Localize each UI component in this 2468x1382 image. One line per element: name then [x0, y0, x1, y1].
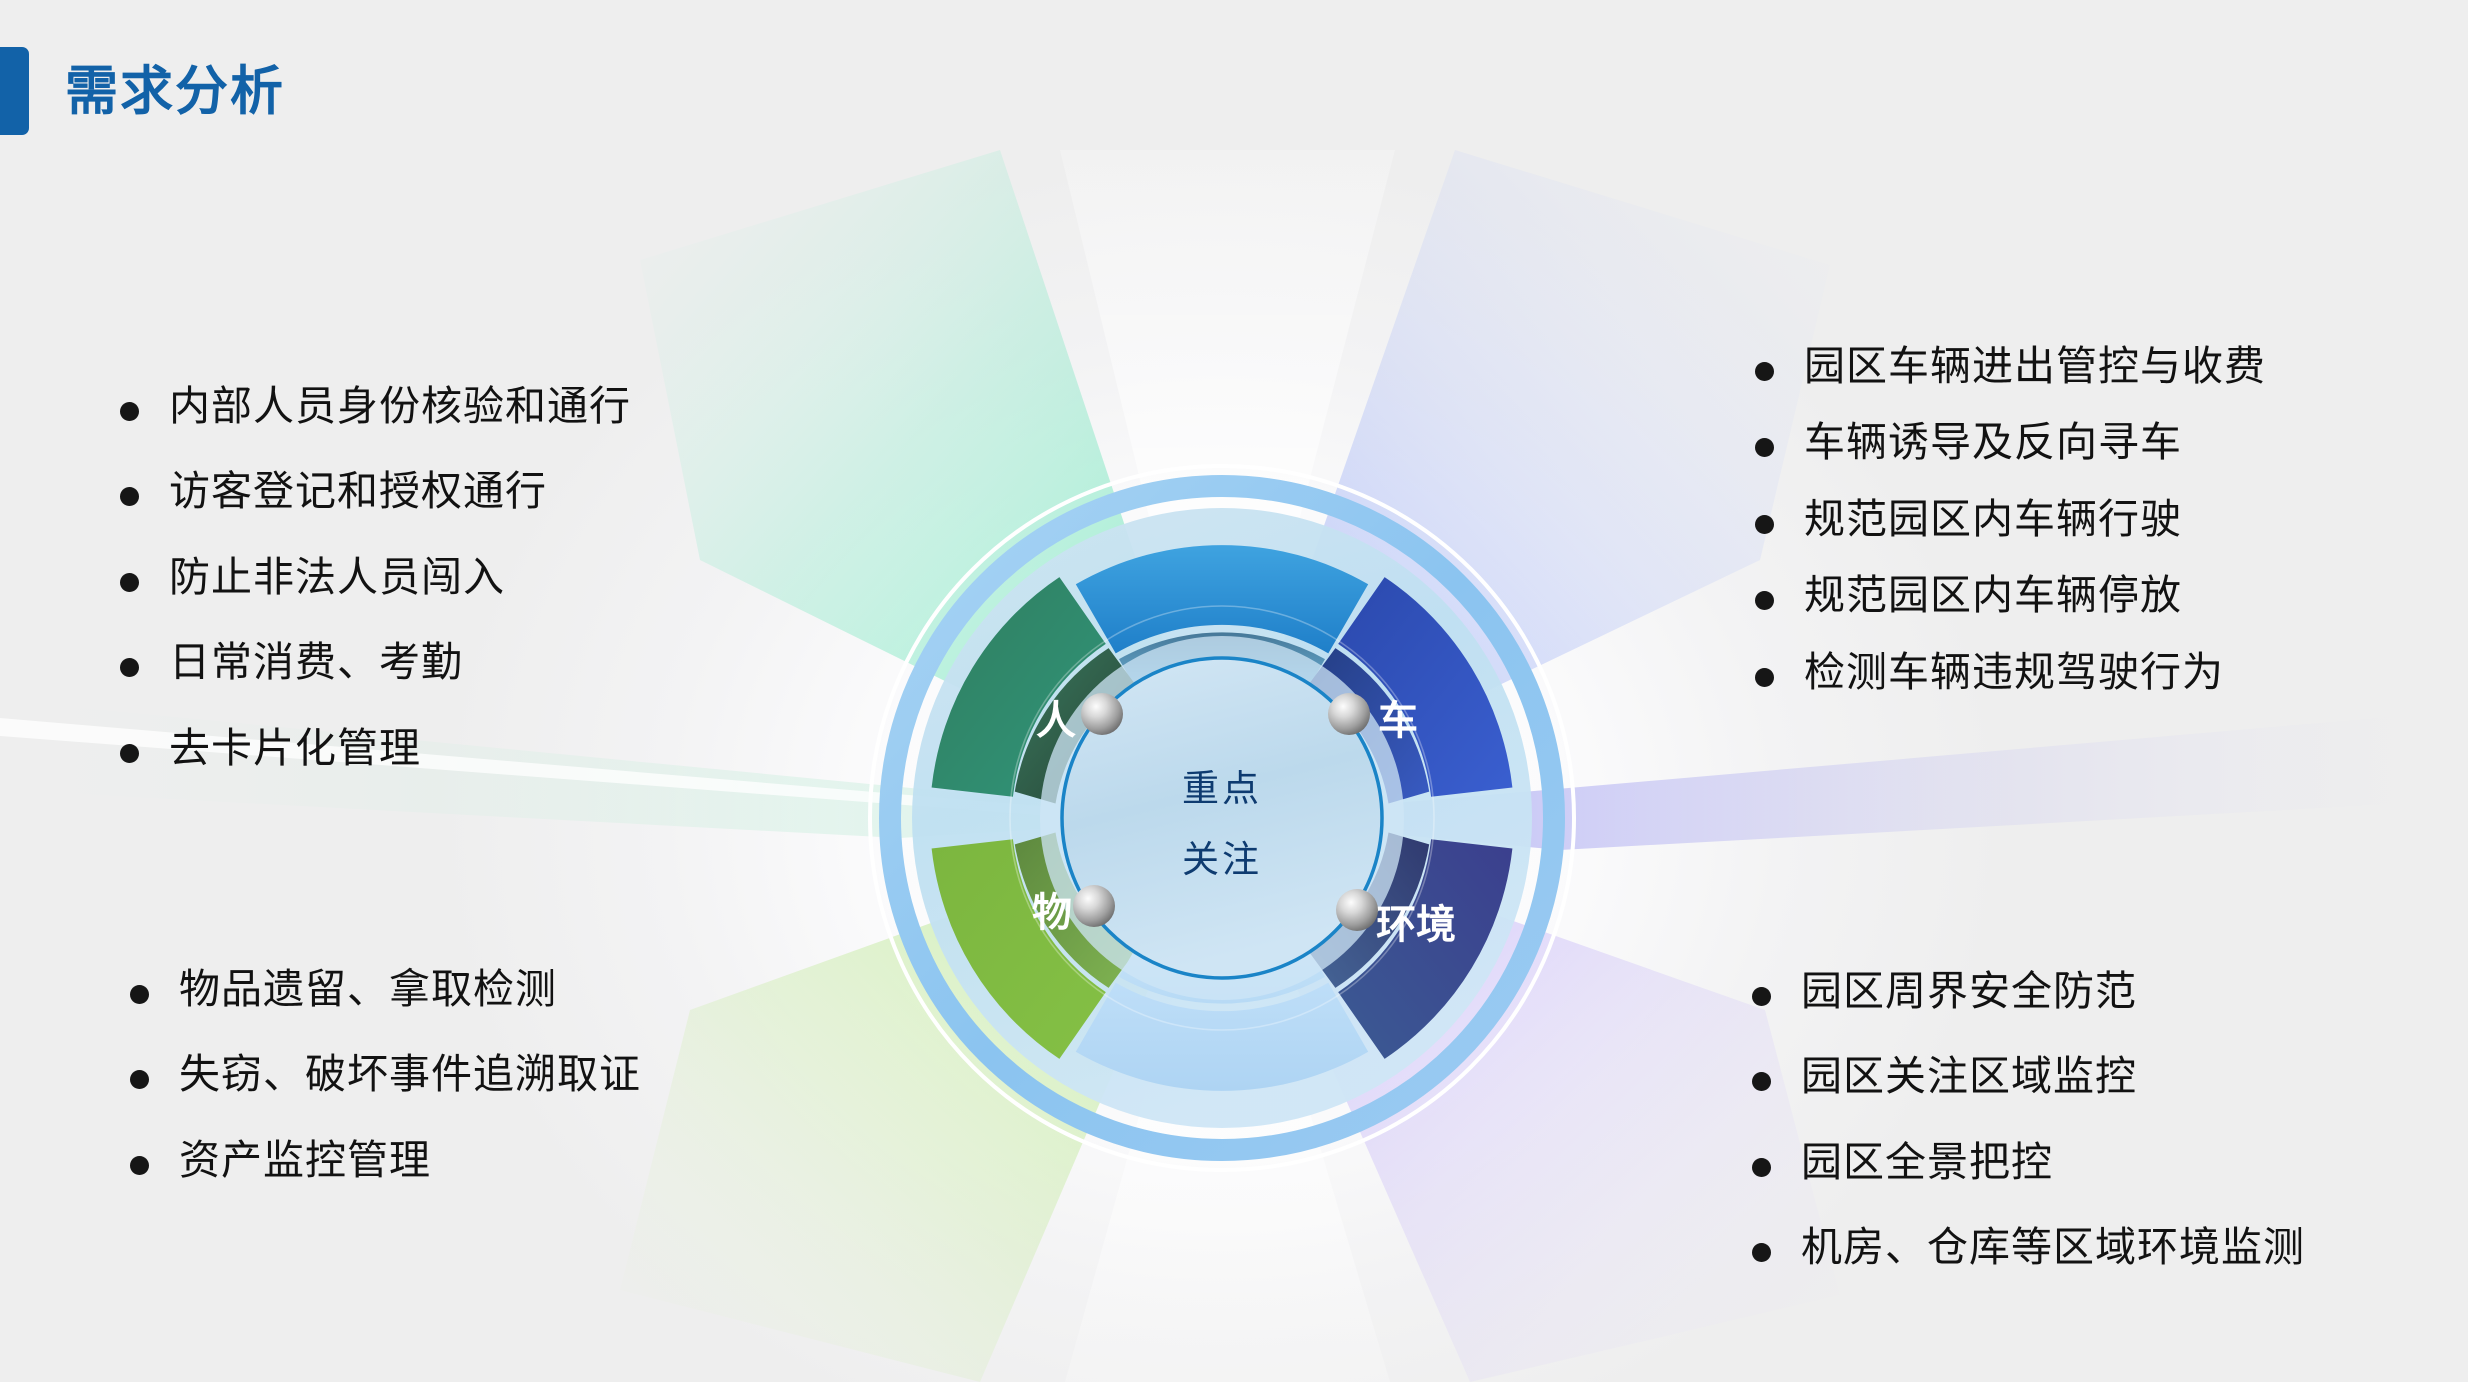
- bullet-icon: [1752, 1072, 1771, 1091]
- list-item-label: 园区车辆进出管控与收费: [1804, 345, 2266, 388]
- segment-label-huanjing: 环境: [1376, 903, 1456, 947]
- list-item[interactable]: 内部人员身份核验和通行: [120, 385, 631, 428]
- requirements-list-people: 内部人员身份核验和通行 访客登记和授权通行 防止非法人员闯入 日常消费、考勤 去…: [120, 385, 631, 812]
- list-item-label: 日常消费、考勤: [169, 641, 463, 684]
- list-item[interactable]: 规范园区内车辆停放: [1755, 574, 2266, 617]
- list-item-label: 物品遗留、拿取检测: [179, 968, 557, 1011]
- bullet-icon: [130, 985, 149, 1004]
- list-item-label: 园区周界安全防范: [1801, 970, 2137, 1013]
- list-item[interactable]: 检测车辆违规驾驶行为: [1755, 651, 2266, 694]
- list-item[interactable]: 日常消费、考勤: [120, 641, 631, 684]
- list-item[interactable]: 园区周界安全防范: [1752, 970, 2305, 1013]
- list-item[interactable]: 物品遗留、拿取检测: [130, 968, 641, 1011]
- list-item-label: 园区全景把控: [1801, 1141, 2053, 1184]
- list-item[interactable]: 防止非法人员闯入: [120, 556, 631, 599]
- hub-label-line2: 关注: [1182, 839, 1262, 880]
- bullet-icon: [1752, 1158, 1771, 1177]
- page-title: 需求分析: [65, 65, 285, 118]
- bullet-icon: [1752, 987, 1771, 1006]
- segment-label-che: 车: [1378, 699, 1418, 743]
- list-item[interactable]: 车辆诱导及反向寻车: [1755, 421, 2266, 464]
- bullet-icon: [1752, 1243, 1771, 1262]
- requirements-list-vehicles: 园区车辆进出管控与收费 车辆诱导及反向寻车 规范园区内车辆行驶 规范园区内车辆停…: [1755, 345, 2266, 727]
- bullet-icon: [120, 744, 139, 763]
- list-item-label: 机房、仓库等区域环境监测: [1801, 1226, 2305, 1269]
- bullet-icon: [120, 402, 139, 421]
- list-item[interactable]: 资产监控管理: [130, 1139, 641, 1182]
- slide-header: 需求分析: [0, 47, 285, 135]
- hub-label-line1: 重点: [1182, 768, 1262, 809]
- list-item[interactable]: 园区全景把控: [1752, 1141, 2305, 1184]
- bullet-icon: [1755, 438, 1774, 457]
- segment-label-ren: 人: [1036, 699, 1076, 743]
- list-item-label: 资产监控管理: [179, 1139, 431, 1182]
- list-item[interactable]: 园区车辆进出管控与收费: [1755, 345, 2266, 388]
- list-item[interactable]: 访客登记和授权通行: [120, 470, 631, 513]
- list-item-label: 检测车辆违规驾驶行为: [1804, 651, 2224, 694]
- marker-sphere-wu: [1073, 885, 1115, 927]
- list-item[interactable]: 园区关注区域监控: [1752, 1055, 2305, 1098]
- list-item-label: 防止非法人员闯入: [169, 556, 505, 599]
- bullet-icon: [120, 658, 139, 677]
- list-item-label: 规范园区内车辆行驶: [1804, 498, 2182, 541]
- list-item-label: 失窃、破坏事件追溯取证: [179, 1053, 641, 1096]
- list-item[interactable]: 去卡片化管理: [120, 727, 631, 770]
- bullet-icon: [1755, 362, 1774, 381]
- focus-wheel-diagram: 重点 关注 人 物 车 环境: [862, 458, 1582, 1178]
- bullet-icon: [1755, 515, 1774, 534]
- marker-sphere-ren: [1081, 693, 1123, 735]
- bullet-icon: [130, 1156, 149, 1175]
- slide-canvas: 需求分析 内部人员身份核验和通行 访客登记和授权通行 防止非法人员闯入 日常消费…: [0, 0, 2468, 1382]
- bullet-icon: [1755, 591, 1774, 610]
- bullet-icon: [130, 1070, 149, 1089]
- list-item-label: 规范园区内车辆停放: [1804, 574, 2182, 617]
- bullet-icon: [120, 573, 139, 592]
- marker-sphere-che: [1328, 693, 1370, 735]
- requirements-list-environment: 园区周界安全防范 园区关注区域监控 园区全景把控 机房、仓库等区域环境监测: [1752, 970, 2305, 1312]
- requirements-list-assets: 物品遗留、拿取检测 失窃、破坏事件追溯取证 资产监控管理: [130, 968, 641, 1224]
- list-item[interactable]: 失窃、破坏事件追溯取证: [130, 1053, 641, 1096]
- bullet-icon: [1755, 668, 1774, 687]
- list-item[interactable]: 规范园区内车辆行驶: [1755, 498, 2266, 541]
- bullet-icon: [120, 487, 139, 506]
- segment-label-wu: 物: [1032, 891, 1072, 935]
- list-item-label: 内部人员身份核验和通行: [169, 385, 631, 428]
- list-item-label: 园区关注区域监控: [1801, 1055, 2137, 1098]
- title-accent-bar: [0, 47, 29, 135]
- marker-sphere-huanjing: [1336, 889, 1378, 931]
- list-item-label: 访客登记和授权通行: [169, 470, 547, 513]
- list-item-label: 车辆诱导及反向寻车: [1804, 421, 2182, 464]
- list-item-label: 去卡片化管理: [169, 727, 421, 770]
- list-item[interactable]: 机房、仓库等区域环境监测: [1752, 1226, 2305, 1269]
